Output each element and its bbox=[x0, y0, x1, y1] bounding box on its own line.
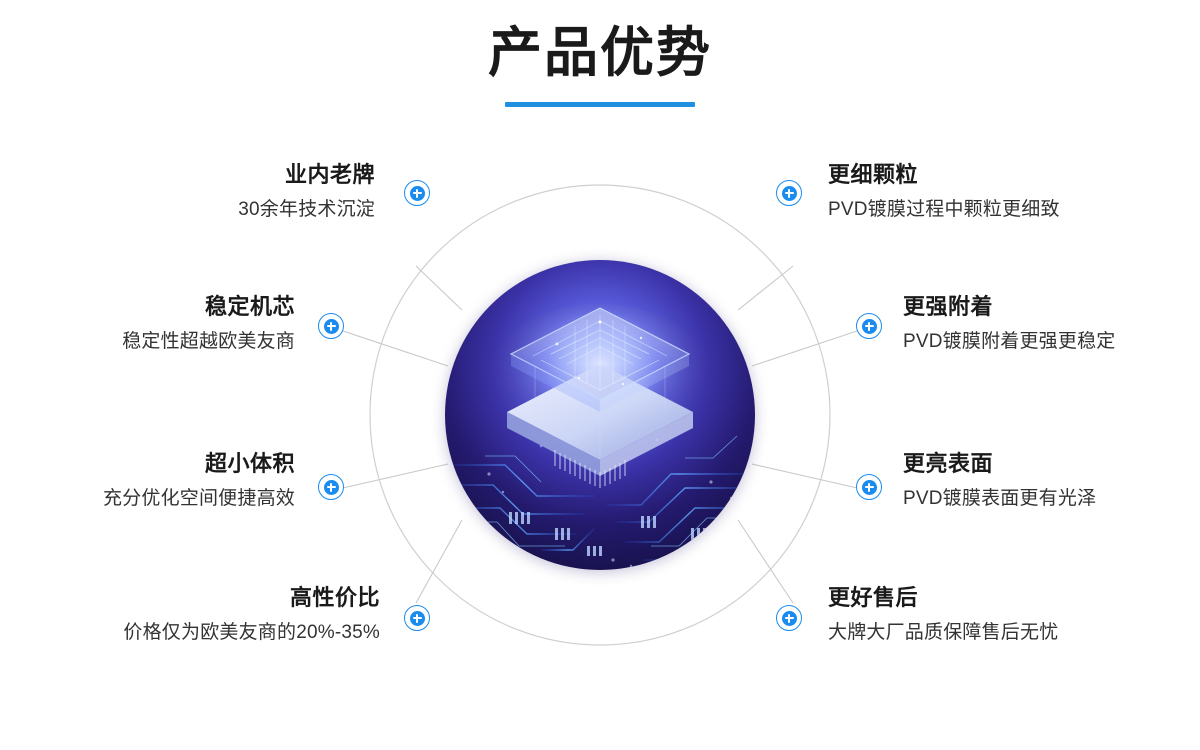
chip-scene bbox=[445, 260, 755, 570]
plus-node-left-1[interactable] bbox=[404, 180, 430, 206]
plus-node-right-1[interactable] bbox=[776, 180, 802, 206]
feature-title: 更强附着 bbox=[903, 292, 1200, 322]
plus-node-right-4[interactable] bbox=[776, 605, 802, 631]
feature-desc: 稳定性超越欧美友商 bbox=[0, 328, 295, 356]
plus-circle-icon bbox=[324, 319, 339, 334]
spoke-6 bbox=[334, 328, 448, 366]
feature-label-left-1: 业内老牌 30余年技术沉淀 bbox=[45, 160, 375, 223]
spoke-3 bbox=[752, 464, 866, 490]
feature-desc: 30余年技术沉淀 bbox=[45, 196, 375, 224]
feature-label-left-3: 超小体积 充分优化空间便捷高效 bbox=[0, 449, 295, 512]
feature-label-right-3: 更亮表面 PVD镀膜表面更有光泽 bbox=[903, 449, 1200, 512]
feature-desc: 充分优化空间便捷高效 bbox=[0, 485, 295, 513]
plus-circle-icon bbox=[782, 611, 797, 626]
plus-circle-icon bbox=[782, 186, 797, 201]
plus-circle-icon bbox=[410, 186, 425, 201]
product-advantages-page: 产品优势 bbox=[0, 0, 1200, 750]
feature-title: 稳定机芯 bbox=[0, 292, 295, 322]
feature-title: 更好售后 bbox=[828, 583, 1158, 613]
feature-label-right-2: 更强附着 PVD镀膜附着更强更稳定 bbox=[903, 292, 1200, 355]
feature-label-right-4: 更好售后 大牌大厂品质保障售后无忧 bbox=[828, 583, 1158, 646]
plus-node-right-2[interactable] bbox=[856, 313, 882, 339]
feature-label-right-1: 更细颗粒 PVD镀膜过程中颗粒更细致 bbox=[828, 160, 1158, 223]
plus-node-left-3[interactable] bbox=[318, 474, 344, 500]
feature-desc: PVD镀膜表面更有光泽 bbox=[903, 485, 1200, 513]
chip-illustration-icon bbox=[445, 260, 755, 570]
feature-desc: PVD镀膜附着更强更稳定 bbox=[903, 328, 1200, 356]
plus-node-left-2[interactable] bbox=[318, 313, 344, 339]
feature-label-left-2: 稳定机芯 稳定性超越欧美友商 bbox=[0, 292, 295, 355]
plus-node-right-3[interactable] bbox=[856, 474, 882, 500]
plus-circle-icon bbox=[862, 319, 877, 334]
feature-title: 更细颗粒 bbox=[828, 160, 1158, 190]
feature-desc: PVD镀膜过程中颗粒更细致 bbox=[828, 196, 1158, 224]
plus-circle-icon bbox=[862, 480, 877, 495]
feature-title: 更亮表面 bbox=[903, 449, 1200, 479]
spoke-2 bbox=[752, 328, 866, 366]
feature-title: 业内老牌 bbox=[45, 160, 375, 190]
feature-label-left-4: 高性价比 价格仅为欧美友商的20%-35% bbox=[55, 583, 380, 646]
center-chip-image bbox=[445, 260, 755, 570]
feature-title: 高性价比 bbox=[55, 583, 380, 613]
plus-circle-icon bbox=[324, 480, 339, 495]
advantages-diagram: 业内老牌 30余年技术沉淀 稳定机芯 稳定性超越欧美友商 超小体积 充分优化空间… bbox=[0, 0, 1200, 750]
plus-node-left-4[interactable] bbox=[404, 605, 430, 631]
feature-title: 超小体积 bbox=[0, 449, 295, 479]
plus-circle-icon bbox=[410, 611, 425, 626]
feature-desc: 价格仅为欧美友商的20%-35% bbox=[55, 619, 380, 647]
spoke-7 bbox=[334, 464, 448, 490]
feature-desc: 大牌大厂品质保障售后无忧 bbox=[828, 619, 1158, 647]
